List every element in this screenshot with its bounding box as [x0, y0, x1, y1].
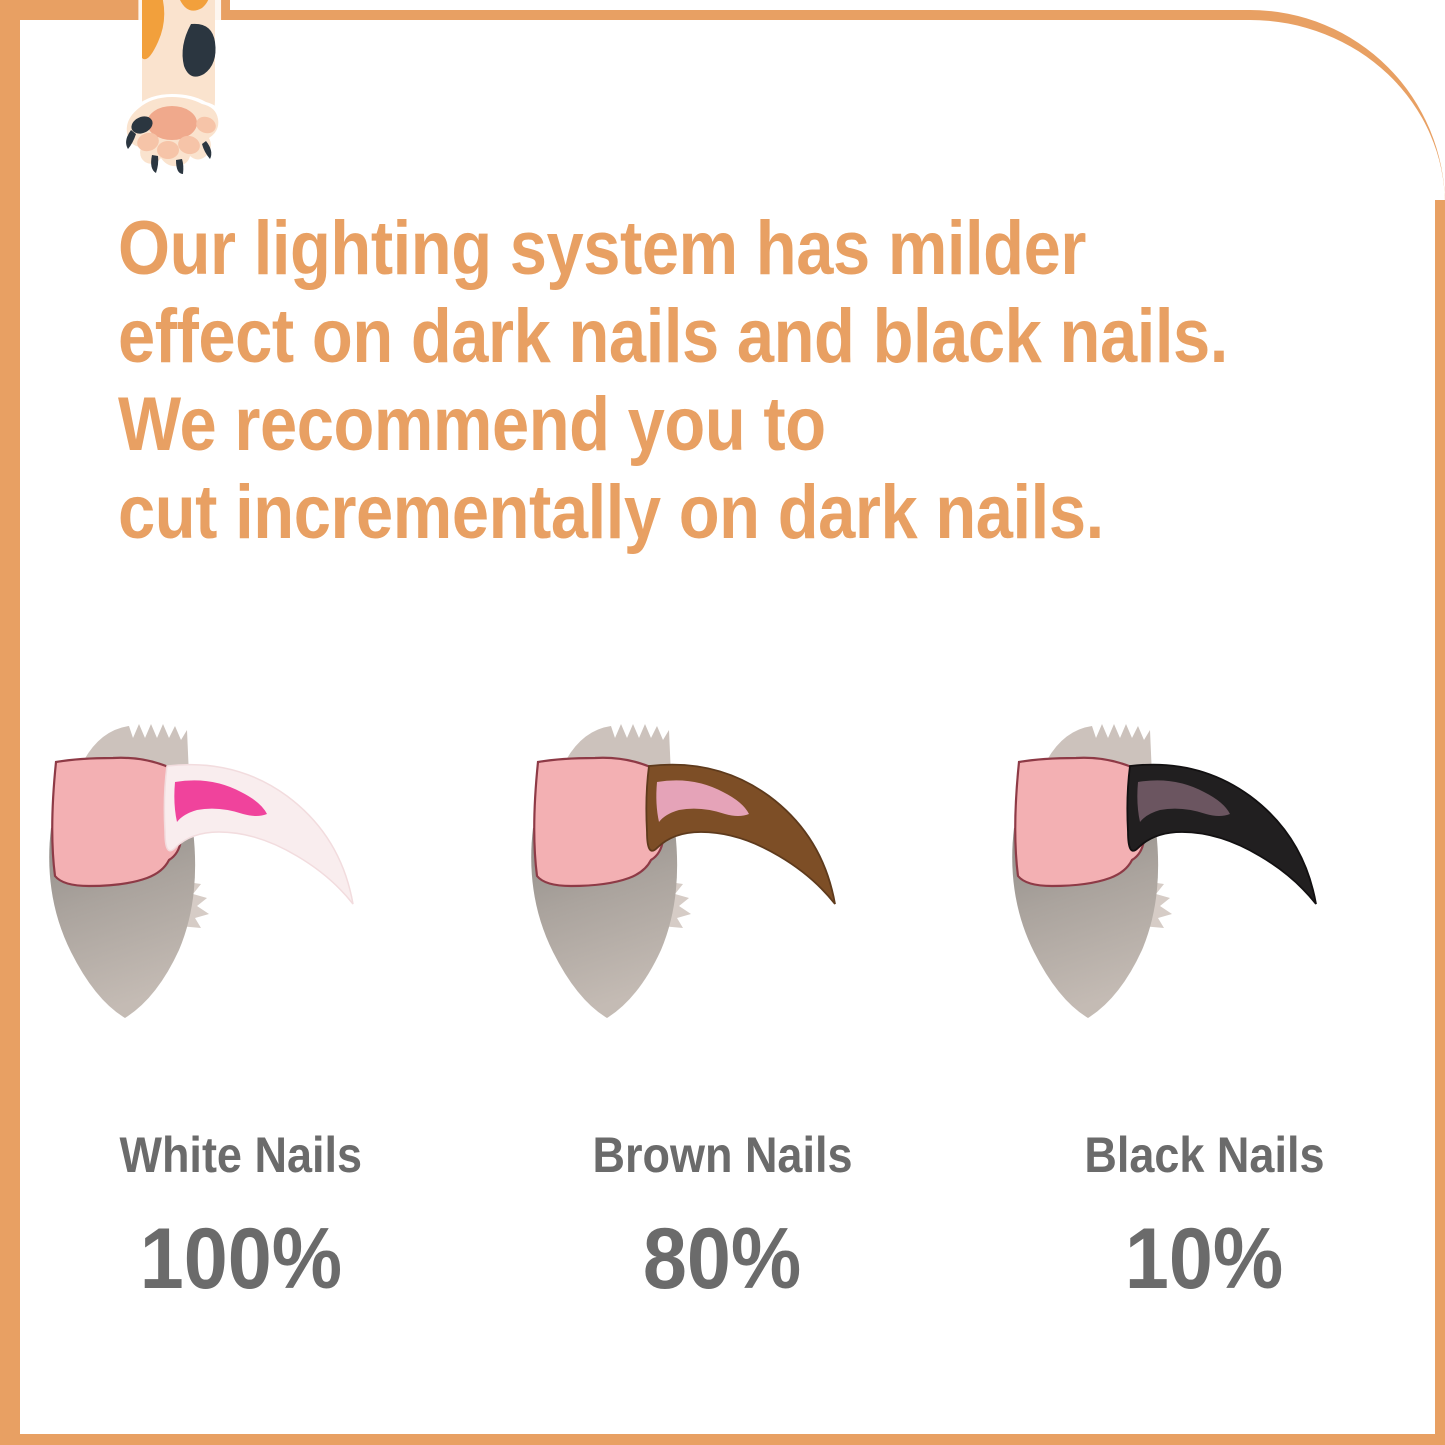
white-nail-illustration [29, 700, 459, 1060]
nail-column-black: Black Nails 10% [963, 700, 1445, 1340]
nail-comparison-row: White Nails 100% [0, 700, 1445, 1340]
headline-line-1: Our lighting system has milder [118, 205, 1209, 293]
nail-percent-black: 10% [1125, 1210, 1283, 1309]
nail-percent-brown: 80% [643, 1210, 801, 1309]
nail-label-black: Black Nails [1084, 1126, 1324, 1184]
black-nail-illustration [992, 700, 1422, 1060]
infographic-canvas: Our lighting system has milder effect on… [0, 0, 1445, 1445]
nail-percent-white: 100% [140, 1210, 342, 1309]
cat-paw-icon [96, 0, 236, 174]
headline-line-2: effect on dark nails and black nails. [118, 293, 1209, 381]
nail-column-brown: Brown Nails 80% [482, 700, 964, 1340]
headline: Our lighting system has milder effect on… [118, 205, 1209, 558]
decorative-frame-bottom-edge [0, 1434, 1445, 1445]
headline-line-4: cut incrementally on dark nails. [118, 469, 1209, 557]
nail-column-white: White Nails 100% [0, 700, 482, 1340]
headline-line-3: We recommend you to [118, 381, 1209, 469]
nail-label-brown: Brown Nails [592, 1126, 852, 1184]
brown-nail-illustration [511, 700, 941, 1060]
nail-label-white: White Nails [120, 1126, 363, 1184]
